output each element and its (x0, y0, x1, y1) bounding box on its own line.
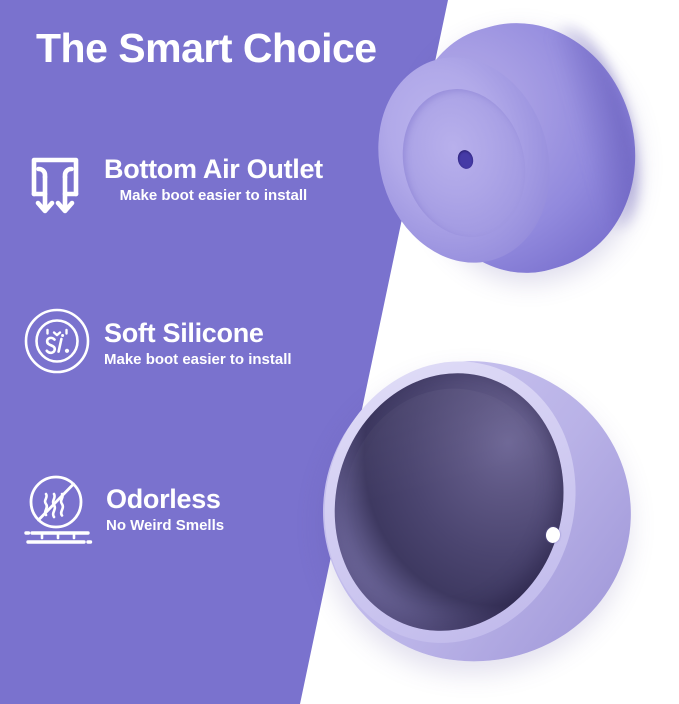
product-silicone-cap-closed (378, 22, 634, 294)
feature-soft-silicone: Soft Silicone Make boot easier to instal… (22, 306, 292, 376)
cup-outer-body (304, 342, 651, 682)
feature-title: Odorless (106, 484, 224, 515)
feature-odorless: Odorless No Weird Smells (18, 472, 224, 552)
feature-subtitle: Make boot easier to install (104, 350, 292, 369)
bottom-air-outlet-icon (18, 148, 90, 226)
page-title: The Smart Choice (36, 24, 377, 72)
product-silicone-cap-open (305, 352, 635, 682)
feature-subtitle: No Weird Smells (106, 516, 224, 535)
product-feature-banner: The Smart Choice Bottom Air Outlet Make … (0, 0, 679, 704)
feature-title: Bottom Air Outlet (104, 154, 323, 185)
odorless-no-smell-icon (18, 472, 94, 552)
feature-text-group: Bottom Air Outlet Make boot easier to in… (104, 148, 323, 205)
feature-bottom-air-outlet: Bottom Air Outlet Make boot easier to in… (18, 148, 323, 226)
cup-inner-cavity (305, 346, 594, 658)
feature-text-group: Soft Silicone Make boot easier to instal… (104, 306, 292, 369)
soft-silicone-si-icon (22, 306, 92, 376)
feature-text-group: Odorless No Weird Smells (106, 472, 224, 535)
feature-subtitle: Make boot easier to install (104, 186, 323, 205)
feature-title: Soft Silicone (104, 318, 292, 349)
